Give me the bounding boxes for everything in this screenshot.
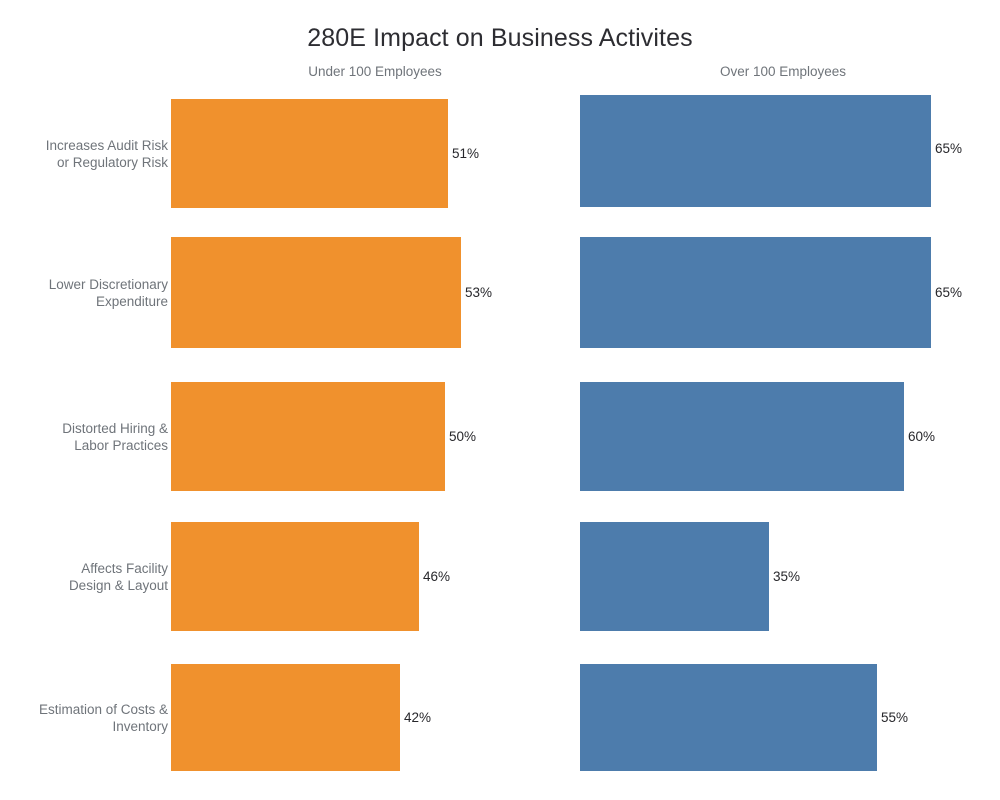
bar-over-100[interactable] [580, 382, 904, 491]
chart-container: 280E Impact on Business Activites Under … [0, 0, 1000, 800]
bar-value-over-100: 65% [931, 284, 962, 302]
bar-value-under-100: 53% [461, 284, 492, 302]
bar-under-100[interactable] [171, 99, 448, 208]
chart-title: 280E Impact on Business Activites [0, 22, 1000, 54]
bar-group-over-100: 60% [580, 382, 904, 491]
bar-group-under-100: 51% [171, 99, 448, 208]
chart-row: Distorted Hiring & Labor Practices 50% 6… [0, 382, 1000, 491]
bar-over-100[interactable] [580, 522, 769, 631]
chart-row: Estimation of Costs & Inventory 42% 55% [0, 664, 1000, 771]
chart-row: Increases Audit Risk or Regulatory Risk … [0, 99, 1000, 208]
panel-header-under-100: Under 100 Employees [245, 63, 505, 81]
bar-group-under-100: 50% [171, 382, 445, 491]
bar-under-100[interactable] [171, 664, 400, 771]
chart-row: Affects Facility Design & Layout 46% 35% [0, 522, 1000, 631]
bar-under-100[interactable] [171, 237, 461, 348]
category-label: Affects Facility Design & Layout [0, 560, 168, 594]
bar-value-under-100: 46% [419, 568, 450, 586]
bar-over-100[interactable] [580, 664, 877, 771]
bar-over-100[interactable] [580, 95, 931, 207]
bar-group-over-100: 65% [580, 237, 931, 348]
bar-group-under-100: 42% [171, 664, 400, 771]
category-label: Distorted Hiring & Labor Practices [0, 420, 168, 454]
bar-under-100[interactable] [171, 522, 419, 631]
bar-value-under-100: 51% [448, 145, 479, 163]
bar-group-over-100: 55% [580, 664, 877, 771]
bar-group-over-100: 35% [580, 522, 769, 631]
plot-area: Increases Audit Risk or Regulatory Risk … [0, 88, 1000, 800]
bar-group-under-100: 46% [171, 522, 419, 631]
bar-value-under-100: 42% [400, 709, 431, 727]
category-label: Lower Discretionary Expenditure [0, 276, 168, 310]
category-label: Increases Audit Risk or Regulatory Risk [0, 137, 168, 171]
category-label: Estimation of Costs & Inventory [0, 701, 168, 735]
chart-row: Lower Discretionary Expenditure 53% 65% [0, 237, 1000, 348]
bar-value-over-100: 60% [904, 428, 935, 446]
bar-group-over-100: 65% [580, 95, 931, 207]
bar-value-over-100: 65% [931, 140, 962, 158]
bar-group-under-100: 53% [171, 237, 461, 348]
bar-under-100[interactable] [171, 382, 445, 491]
panel-header-over-100: Over 100 Employees [653, 63, 913, 81]
bar-over-100[interactable] [580, 237, 931, 348]
bar-value-over-100: 55% [877, 709, 908, 727]
bar-value-under-100: 50% [445, 428, 476, 446]
bar-value-over-100: 35% [769, 568, 800, 586]
